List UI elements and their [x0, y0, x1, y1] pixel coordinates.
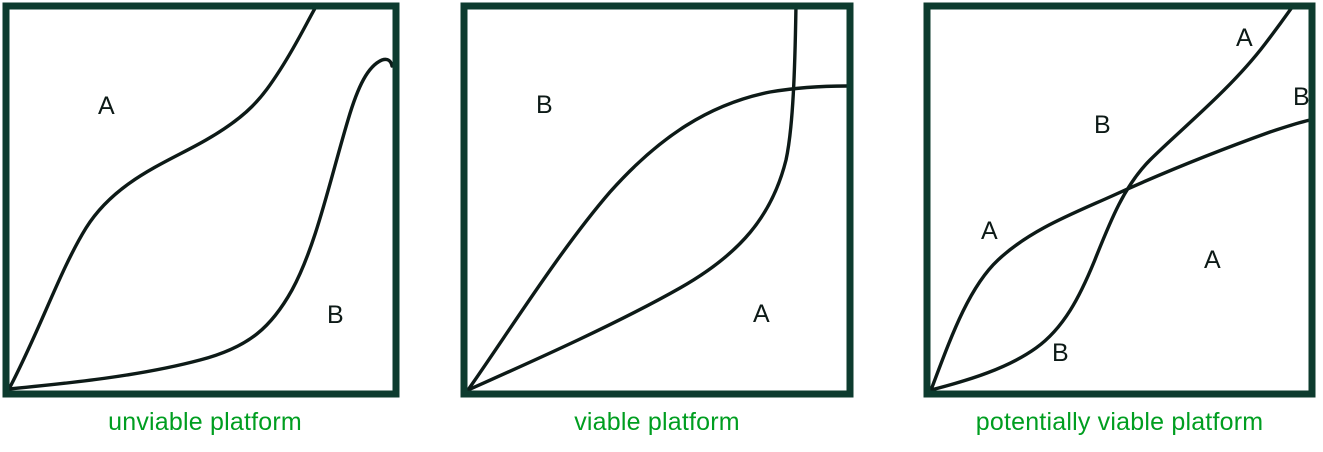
- region-label-b-upper: B: [1094, 111, 1111, 139]
- caption-viable: viable platform: [464, 408, 850, 437]
- curve-b: [468, 86, 848, 390]
- curve-b: [931, 3, 1295, 390]
- region-label-a: A: [753, 300, 770, 328]
- panel-unviable: A B unviable platform: [0, 0, 410, 452]
- plot-unviable: A B: [0, 0, 410, 400]
- region-label-a-lower: A: [1204, 246, 1221, 274]
- curve-a: [468, 4, 796, 390]
- curve-a: [931, 120, 1310, 390]
- caption-potentially-viable: potentially viable platform: [927, 408, 1312, 437]
- plot-border: [464, 6, 850, 394]
- region-label-b-lower: B: [1052, 339, 1069, 367]
- region-label-b: B: [327, 301, 344, 329]
- region-label-a-left: A: [981, 217, 998, 245]
- region-label-a-top: A: [1236, 24, 1253, 52]
- caption-unviable: unviable platform: [0, 408, 410, 437]
- plot-border: [927, 6, 1312, 394]
- three-panel-platform-diagram: A B unviable platform B A viable platfor…: [0, 0, 1323, 452]
- plot-border: [6, 6, 396, 394]
- region-label-b: B: [536, 91, 553, 119]
- region-label-b-right: B: [1293, 83, 1310, 111]
- region-label-a: A: [98, 92, 115, 120]
